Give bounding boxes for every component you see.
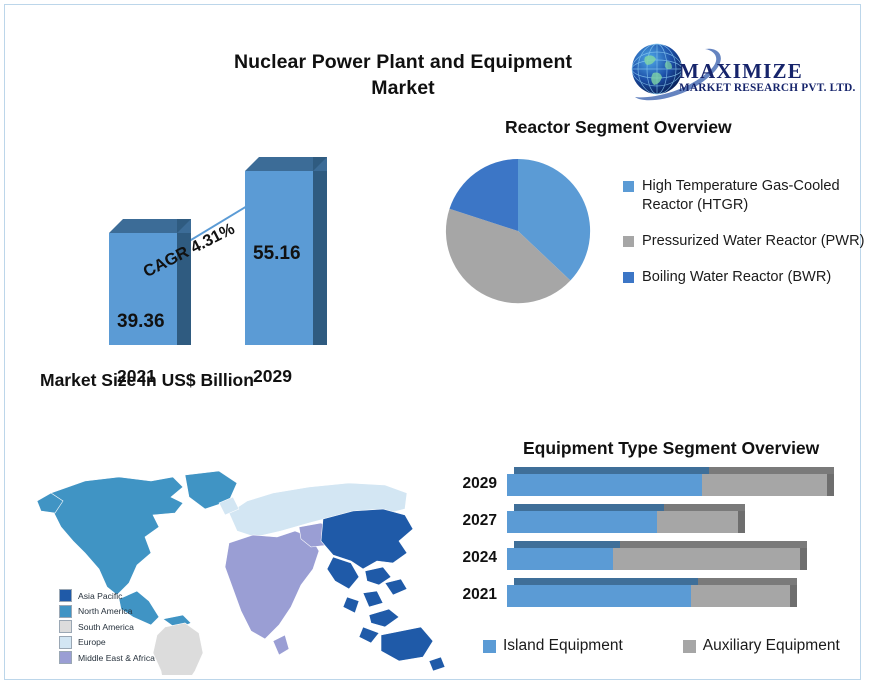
map-legend-swatch-south-america (59, 620, 72, 633)
equipment-stack-legend: Island Equipment Auxiliary Equipment (483, 637, 840, 655)
stack-seg-auxiliary-top-2021 (698, 578, 797, 585)
legend-item-bwr: Boiling Water Reactor (BWR) (623, 268, 868, 287)
page-title-line1: Nuclear Power Plant and Equipment (173, 49, 633, 75)
legend-swatch-island-equipment (483, 640, 496, 653)
legend-item-island-equipment: Island Equipment (483, 637, 623, 655)
stack-seg-side-2029 (827, 474, 834, 496)
column-bar-side-bevel (177, 219, 191, 233)
stack-seg-auxiliary-2021 (691, 585, 790, 607)
stack-seg-side-2021 (790, 585, 797, 607)
infographic-frame: Nuclear Power Plant and Equipment Market (4, 4, 861, 680)
map-legend-label-middle-east-africa: Middle East & Africa (78, 653, 155, 663)
legend-swatch-bwr (623, 272, 634, 283)
stack-row-2021: 2021 (445, 578, 865, 612)
column-value-2029: 55.16 (253, 243, 301, 265)
map-legend-item-middle-east-africa: Middle East & Africa (59, 651, 155, 664)
market-size-chart: 39.36 2021 55.16 2029 CAGR 4.31% (65, 135, 415, 405)
logo-name-main: MAXIMIZE (679, 61, 865, 81)
stack-seg-island-2024 (507, 548, 613, 570)
stack-seg-island-top-2027 (514, 504, 664, 511)
map-legend-label-north-america: North America (78, 606, 132, 616)
logo-name-sub: MARKET RESEARCH PVT. LTD. (679, 82, 865, 95)
stack-seg-island-top-2024 (514, 541, 620, 548)
stack-seg-island-2029 (507, 474, 702, 496)
legend-label-auxiliary-equipment: Auxiliary Equipment (703, 637, 840, 655)
stack-seg-island-2027 (507, 511, 657, 533)
column-category-2029: 2029 (253, 366, 292, 387)
stack-seg-auxiliary-top-2024 (620, 541, 807, 548)
map-legend-swatch-middle-east-africa (59, 651, 72, 664)
stack-seg-auxiliary-top-2029 (709, 467, 834, 474)
map-legend-label-europe: Europe (78, 637, 106, 647)
column-bar-side (313, 171, 327, 345)
stack-row-2027: 2027 (445, 504, 865, 538)
stack-seg-auxiliary-2027 (657, 511, 738, 533)
legend-label-pwr: Pressurized Water Reactor (PWR) (642, 232, 864, 251)
stack-row-label-2027: 2027 (445, 512, 497, 530)
equipment-stack-title: Equipment Type Segment Overview (523, 438, 819, 459)
stack-seg-island-2021 (507, 585, 691, 607)
reactor-pie-chart (442, 155, 594, 307)
page-title: Nuclear Power Plant and Equipment Market (173, 49, 633, 102)
map-legend-label-asia-pacific: Asia Pacific (78, 591, 122, 601)
stack-row-label-2021: 2021 (445, 586, 497, 604)
page-title-line2: Market (173, 75, 633, 101)
stack-seg-side-2024 (800, 548, 807, 570)
legend-label-bwr: Boiling Water Reactor (BWR) (642, 268, 831, 287)
column-value-2021: 39.36 (117, 311, 165, 333)
map-legend-item-south-america: South America (59, 620, 155, 633)
map-region-asia-pacific (321, 509, 445, 671)
stack-seg-auxiliary-2029 (702, 474, 827, 496)
map-legend: Asia Pacific North America South America… (59, 589, 155, 667)
legend-swatch-auxiliary-equipment (683, 640, 696, 653)
legend-item-auxiliary-equipment: Auxiliary Equipment (683, 637, 840, 655)
map-legend-label-south-america: South America (78, 622, 134, 632)
map-legend-item-asia-pacific: Asia Pacific (59, 589, 155, 602)
legend-item-pwr: Pressurized Water Reactor (PWR) (623, 232, 868, 251)
legend-swatch-htgr (623, 181, 634, 192)
map-region-middle-east-africa (225, 523, 335, 655)
map-legend-swatch-europe (59, 636, 72, 649)
stack-row-label-2024: 2024 (445, 549, 497, 567)
stack-seg-auxiliary-top-2027 (664, 504, 745, 511)
company-logo: MAXIMIZE MARKET RESEARCH PVT. LTD. (627, 41, 865, 109)
logo-wordmark: MAXIMIZE MARKET RESEARCH PVT. LTD. (679, 61, 865, 95)
stack-seg-auxiliary-2024 (613, 548, 800, 570)
stack-seg-island-top-2021 (514, 578, 698, 585)
legend-label-htgr: High Temperature Gas-Cooled Reactor (HTG… (642, 177, 868, 215)
legend-swatch-pwr (623, 236, 634, 247)
reactor-pie-title: Reactor Segment Overview (505, 117, 732, 138)
market-size-caption: Market Size in US$ Billion (40, 370, 254, 391)
stack-row-label-2029: 2029 (445, 475, 497, 493)
legend-label-island-equipment: Island Equipment (503, 637, 623, 655)
map-legend-swatch-north-america (59, 605, 72, 618)
map-legend-item-europe: Europe (59, 636, 155, 649)
reactor-pie-legend: High Temperature Gas-Cooled Reactor (HTG… (623, 177, 868, 304)
stack-seg-side-2027 (738, 511, 745, 533)
map-region-south-america (153, 623, 203, 675)
map-legend-swatch-asia-pacific (59, 589, 72, 602)
legend-item-htgr: High Temperature Gas-Cooled Reactor (HTG… (623, 177, 868, 215)
stack-seg-island-top-2029 (514, 467, 709, 474)
globe-icon (631, 43, 683, 95)
stack-row-2024: 2024 (445, 541, 865, 575)
equipment-stack-chart: 2029 2027 2024 2021 (445, 467, 865, 627)
stack-row-2029: 2029 (445, 467, 865, 501)
map-legend-item-north-america: North America (59, 605, 155, 618)
column-bar-side-bevel (313, 157, 327, 171)
